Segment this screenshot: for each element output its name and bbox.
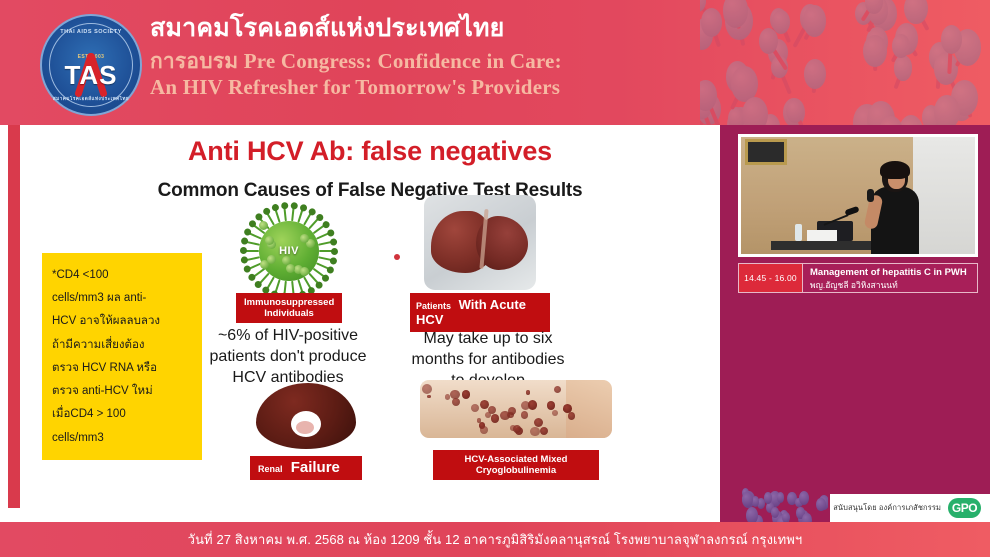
session-side-panel: 14.45 - 16.00 Management of hepatitis C … <box>720 125 990 522</box>
blood-cell-decoration <box>700 0 990 125</box>
panel-cell-decoration <box>742 488 828 522</box>
cell-shape <box>782 512 790 522</box>
skin-lesion <box>471 404 479 412</box>
skin-lesion <box>427 395 430 398</box>
session-title: Management of hepatitis C in PWH <box>810 267 977 279</box>
slide-content: Anti HCV Ab: false negatives Common Caus… <box>20 125 720 508</box>
slide-subtitle: Common Causes of False Negative Test Res… <box>20 180 720 202</box>
skin-lesion <box>462 390 470 398</box>
skin-lesion <box>521 411 529 419</box>
note-line: ตรวจ anti-HCV ใหม่ <box>52 380 193 403</box>
cell-shape <box>816 498 826 512</box>
note-line: cells/mm3 <box>52 427 193 450</box>
sponsor-badge: สนับสนุนโดย องค์การเภสัชกรรม GPO <box>830 494 990 522</box>
cell-shape <box>799 491 809 505</box>
gpo-logo-icon: GPO <box>948 498 981 518</box>
skin-lesion <box>563 404 572 413</box>
note-line: ตรวจ HCV RNA หรือ <box>52 357 193 380</box>
yellow-annotation-box: *CD4 <100 cells/mm3 ผล anti- HCV อาจให้ผ… <box>42 253 202 460</box>
chip-main-text: Failure <box>291 459 340 476</box>
arm-lesions-icon <box>420 380 612 438</box>
sponsor-text: สนับสนุนโดย องค์การเภสัชกรรม <box>833 502 941 514</box>
event-subtitle-line2: An HIV Refresher for Tomorrow's Provider… <box>150 74 710 100</box>
para-line: patients don't produce <box>202 346 374 367</box>
kidney-hilum <box>296 421 314 434</box>
session-info: Management of hepatitis C in PWH พญ.อัญช… <box>802 264 977 292</box>
chip-immunosuppressed-individuals: Immunosuppressed Individuals <box>236 293 342 323</box>
virus-label: HIV <box>242 245 336 257</box>
virus-bump <box>265 236 274 245</box>
skin-lesion <box>420 380 423 383</box>
skin-lesion <box>445 394 450 399</box>
event-header-banner: THAI AIDS SOCIETY EST. 2003 TAS สมาคมโรค… <box>0 0 990 125</box>
kidney-icon <box>252 381 360 453</box>
video-wall <box>913 137 975 254</box>
video-water-bottle <box>795 224 802 241</box>
thai-aids-society-logo: THAI AIDS SOCIETY EST. 2003 TAS สมาคมโรค… <box>40 14 142 116</box>
cell-shape <box>802 513 812 522</box>
note-line: HCV อาจให้ผลลบลวง <box>52 310 193 333</box>
slide-bullet-dot <box>394 254 400 260</box>
video-name-card <box>807 230 837 241</box>
note-line: *CD4 <100 <box>52 264 193 287</box>
presentation-stream-screen: THAI AIDS SOCIETY EST. 2003 TAS สมาคมโรค… <box>0 0 990 557</box>
skin-lesion <box>540 427 548 435</box>
cell-shape <box>777 492 785 503</box>
session-time: 14.45 - 16.00 <box>739 264 802 292</box>
organization-title: สมาคมโรคเอดส์แห่งประเทศไทย <box>150 14 710 43</box>
chip-line1: HCV-Associated Mixed <box>441 454 591 465</box>
arm-hand <box>566 380 612 438</box>
logo-arc-bottom-text: สมาคมโรคเอดส์แห่งประเทศไทย <box>42 96 140 103</box>
skin-lesion <box>491 414 499 422</box>
cell-shape <box>771 507 779 518</box>
skin-lesion <box>547 401 556 410</box>
video-desk <box>771 241 876 250</box>
cell-shape <box>746 507 758 522</box>
virus-bump <box>300 267 309 276</box>
chip-small-text: Patients <box>416 301 451 311</box>
slide-viewer[interactable]: Anti HCV Ab: false negatives Common Caus… <box>8 125 720 508</box>
skin-lesion <box>521 401 530 410</box>
chip-renal-failure: Renal Failure <box>250 456 362 480</box>
skin-lesion <box>485 412 491 418</box>
logo-letters: TAS <box>42 60 140 91</box>
note-line: เมื่อCD4 > 100 <box>52 403 193 426</box>
chip-line2: Individuals <box>244 308 334 319</box>
chip-hcv-associated-mixed-cryoglobulinemia: HCV-Associated Mixed Cryoglobulinemia <box>433 450 599 480</box>
virus-bump <box>260 260 269 269</box>
logo-disc: THAI AIDS SOCIETY EST. 2003 TAS สมาคมโรค… <box>40 14 142 116</box>
video-mic-head <box>844 206 859 216</box>
hiv-virus-icon: HIV <box>242 205 336 297</box>
skin-lesion <box>568 412 576 420</box>
skin-lesion <box>452 398 460 406</box>
skin-lesion <box>480 426 487 433</box>
slide-title: Anti HCV Ab: false negatives <box>20 136 720 167</box>
event-subtitle-line1: การอบรม Pre Congress: Confidence in Care… <box>150 48 710 74</box>
skin-lesion <box>508 407 516 415</box>
skin-lesion <box>422 384 432 394</box>
chip-line1: Immunosuppressed <box>244 297 334 308</box>
skin-lesion <box>534 418 543 427</box>
para-line: May take up to six <box>398 328 578 349</box>
skin-lesion <box>554 386 561 393</box>
para-line: months for antibodies <box>398 349 578 370</box>
header-title-group: สมาคมโรคเอดส์แห่งประเทศไทย การอบรม Pre C… <box>150 14 710 100</box>
chip-small-text: Renal <box>258 464 283 474</box>
paragraph-immunosuppressed: ~6% of HIV-positive patients don't produ… <box>202 325 374 388</box>
virus-bump <box>286 264 295 273</box>
skin-lesion <box>477 418 482 423</box>
virus-bump <box>259 221 268 230</box>
cell-shape <box>742 492 753 507</box>
chip-line2: Cryoglobulinemia <box>441 465 591 476</box>
para-line: ~6% of HIV-positive <box>202 325 374 346</box>
video-frame <box>741 137 975 254</box>
video-handheld-mic <box>867 189 874 202</box>
liver-icon <box>424 195 536 290</box>
skin-lesion <box>530 427 539 436</box>
logo-arc-top-text: THAI AIDS SOCIETY <box>42 29 140 35</box>
note-line: cells/mm3 ผล anti- <box>52 287 193 310</box>
session-caption-bar: 14.45 - 16.00 Management of hepatitis C … <box>738 263 978 293</box>
video-speaker-hair <box>880 161 910 179</box>
note-line: ถ้ามีความเสี่ยงต้อง <box>52 334 193 357</box>
chip-patients-with-acute-hcv: Patients With Acute HCV <box>410 293 550 332</box>
footer-venue-text: วันที่ 27 สิงหาคม พ.ศ. 2568 ณ ห้อง 1209 … <box>188 529 803 550</box>
video-picture-frame <box>745 139 787 165</box>
session-speaker: พญ.อัญชลี อวิหิงสานนท์ <box>810 280 977 291</box>
event-footer-bar: วันที่ 27 สิงหาคม พ.ศ. 2568 ณ ห้อง 1209 … <box>0 522 990 557</box>
skin-lesion <box>552 410 558 416</box>
speaker-video-player[interactable] <box>738 134 978 257</box>
skin-lesion <box>480 400 489 409</box>
skin-lesion <box>526 390 531 395</box>
